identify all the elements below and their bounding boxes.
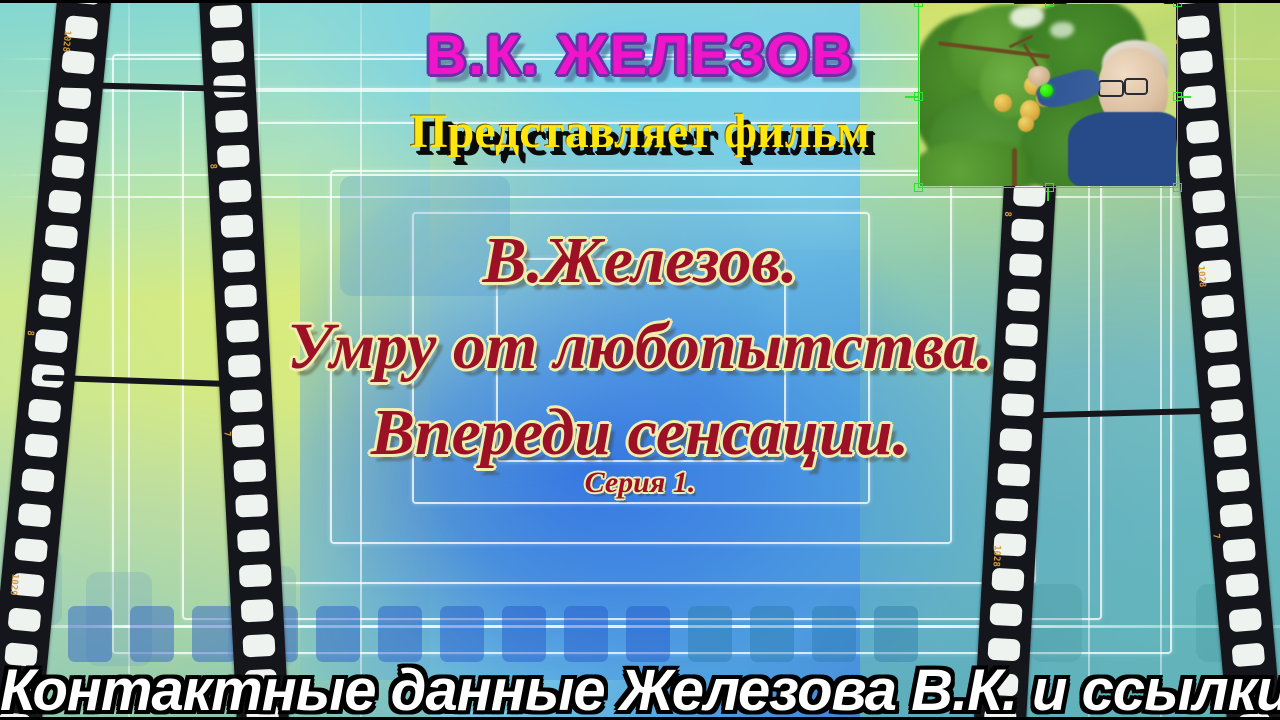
sprocket-hole: [1228, 608, 1262, 633]
background-chiclet-row: [0, 600, 1280, 662]
sprocket-hole: [992, 568, 1024, 592]
sprocket-hole: [996, 498, 1028, 522]
presents-label: Представляет фильм: [0, 104, 1280, 159]
sprocket-hole: [48, 189, 82, 214]
sprocket-hole: [1192, 189, 1226, 214]
sprocket-hole: [243, 634, 275, 658]
chiclet: [130, 606, 174, 662]
chiclet: [68, 606, 112, 662]
chiclet: [316, 606, 360, 662]
sprocket-hole: [219, 179, 251, 203]
filmstrip-number: 8: [207, 163, 217, 169]
sprocket-hole: [1222, 538, 1256, 563]
sprocket-hole: [14, 538, 48, 563]
film-title-line-2: Умру от любопытства.: [0, 304, 1280, 390]
video-frame: 1028 8 1029 8: [0, 0, 1280, 720]
chiclet: [812, 606, 856, 662]
filmstrip-number: 1029: [8, 573, 20, 596]
sprocket-hole: [239, 564, 271, 588]
film-title-line-1: В.Железов.: [0, 218, 1280, 304]
chiclet: [626, 606, 670, 662]
sprocket-hole: [1225, 573, 1259, 598]
chiclet: [378, 606, 422, 662]
sprocket-hole: [17, 503, 51, 528]
film-title: В.Железов. Умру от любопытства. Впереди …: [0, 218, 1280, 476]
presenter-name: В.К. ЖЕЛЕЗОВ: [0, 22, 1280, 87]
film-title-line-3: Впереди сенсации.: [0, 390, 1280, 476]
chiclet: [502, 606, 546, 662]
chiclet: [440, 606, 484, 662]
sprocket-hole: [241, 599, 273, 623]
sprocket-hole: [237, 529, 269, 553]
filmstrip-number: 7: [1210, 533, 1220, 539]
chiclet: [750, 606, 794, 662]
letterbox-top: [0, 0, 1280, 3]
sprocket-hole: [1219, 503, 1253, 528]
chiclet: [192, 606, 236, 662]
sprocket-hole: [1013, 183, 1045, 207]
series-label: Серия 1.: [0, 466, 1280, 500]
filmstrip-number: 8: [1002, 211, 1012, 217]
chiclet: [564, 606, 608, 662]
chiclet: [874, 606, 918, 662]
chiclet: [688, 606, 732, 662]
bottom-caption: Контактные данные Железова В.К. и ссылки…: [0, 657, 1280, 720]
filmstrip-number: 1028: [990, 545, 1001, 567]
sprocket-hole: [990, 603, 1022, 627]
sprocket-hole: [7, 607, 41, 632]
